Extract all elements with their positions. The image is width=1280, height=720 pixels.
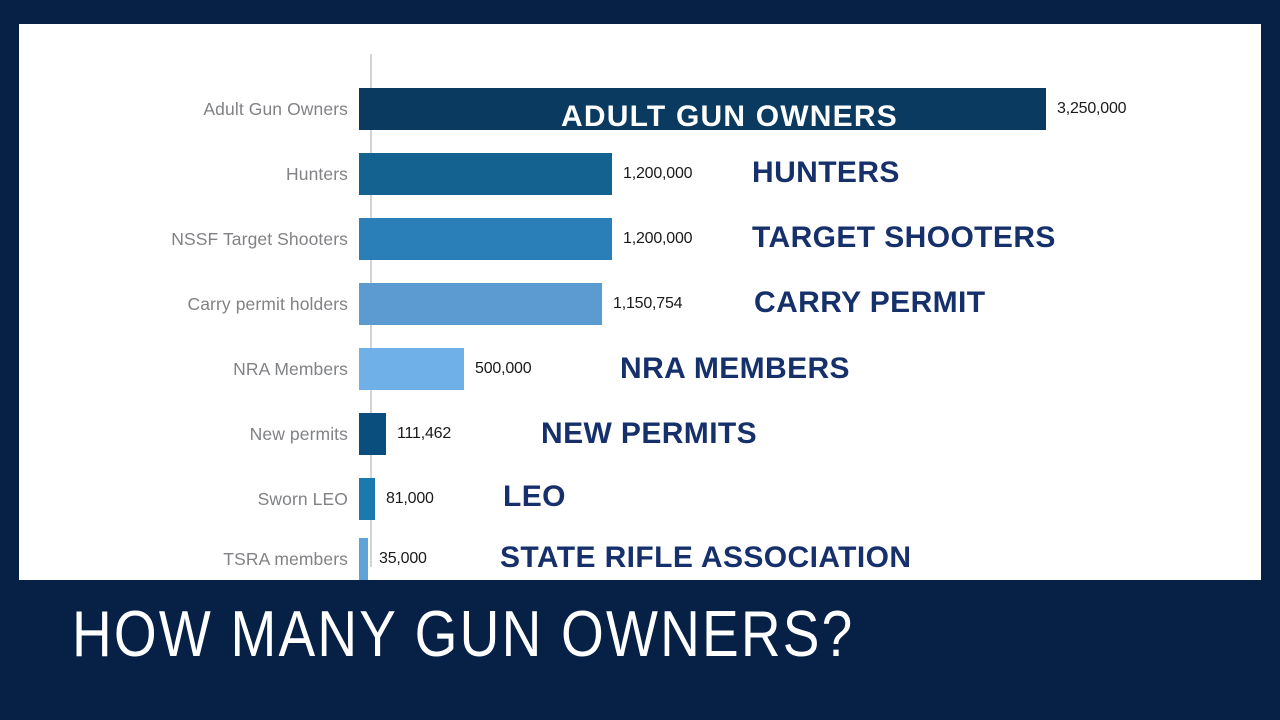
bar-category-label: Hunters — [19, 164, 359, 185]
bar — [359, 153, 612, 195]
bar-row: Carry permit holders1,150,754 — [19, 283, 1261, 325]
bar-category-label: New permits — [19, 424, 359, 445]
bar-annotation: NRA MEMBERS — [620, 354, 850, 384]
bar-annotation: ADULT GUN OWNERS — [561, 102, 898, 132]
bar-category-label: NRA Members — [19, 359, 359, 380]
bar-category-label: Adult Gun Owners — [19, 99, 359, 120]
bar-annotation: NEW PERMITS — [541, 419, 757, 449]
bar-annotation: LEO — [503, 482, 566, 512]
bar-value-label: 81,000 — [375, 490, 434, 508]
bar-value-label: 111,462 — [386, 425, 451, 443]
bar-row: NSSF Target Shooters1,200,000 — [19, 218, 1261, 260]
bar-annotation: CARRY PERMIT — [754, 288, 986, 318]
bar-annotation: STATE RIFLE ASSOCIATION — [500, 543, 911, 573]
bar-value-label: 1,200,000 — [612, 230, 692, 248]
bar-track: 111,462 — [359, 413, 1261, 455]
bar — [359, 218, 612, 260]
bar-category-label: TSRA members — [19, 549, 359, 570]
bar-row: Sworn LEO81,000 — [19, 478, 1261, 520]
bar-value-label: 1,150,754 — [602, 295, 682, 313]
bar — [359, 538, 368, 580]
bar-category-label: NSSF Target Shooters — [19, 229, 359, 250]
slide-root: Adult Gun Owners3,250,000Hunters1,200,00… — [0, 0, 1280, 720]
bar-value-label: 1,200,000 — [612, 165, 692, 183]
bar-category-label: Sworn LEO — [19, 489, 359, 510]
bar — [359, 283, 602, 325]
bar-track: 81,000 — [359, 478, 1261, 520]
bar-annotation: HUNTERS — [752, 158, 900, 188]
bar-row: Hunters1,200,000 — [19, 153, 1261, 195]
bar-annotation: TARGET SHOOTERS — [752, 223, 1056, 253]
bar-value-label: 35,000 — [368, 550, 427, 568]
bar — [359, 478, 375, 520]
page-title: HOW MANY GUN OWNERS? — [72, 598, 854, 669]
bar — [359, 348, 464, 390]
bar — [359, 413, 386, 455]
bar-value-label: 3,250,000 — [1046, 100, 1126, 118]
chart-panel: Adult Gun Owners3,250,000Hunters1,200,00… — [19, 24, 1261, 580]
bar-category-label: Carry permit holders — [19, 294, 359, 315]
bar-value-label: 500,000 — [464, 360, 531, 378]
